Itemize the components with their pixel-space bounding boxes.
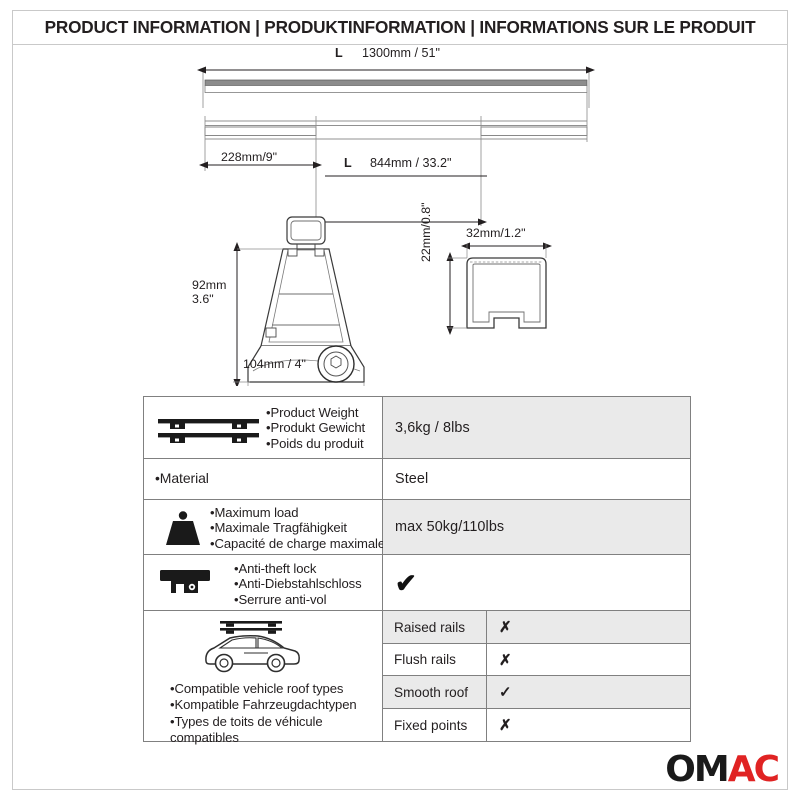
roof-option-name: Smooth roof [383, 676, 487, 708]
spec-label-material: •Material [155, 471, 209, 486]
roof-option-row: Smooth roof ✓ [383, 676, 690, 709]
spec-label-text: •Anti-theft lock •Anti-Diebstahlschloss … [234, 561, 362, 607]
crossbar-bottom-view [205, 121, 587, 139]
roof-option-name: Fixed points [383, 709, 487, 741]
logo-text-red: AC [728, 749, 778, 790]
product-information-page: PRODUCT INFORMATION | PRODUKTINFORMATION… [0, 0, 800, 800]
anti-theft-checkmark: ✔ [395, 570, 417, 596]
spec-label-cell: •Material [144, 459, 383, 499]
page-title: PRODUCT INFORMATION | PRODUKTINFORMATION… [0, 17, 800, 38]
bar-spread-value: 844mm / 33.2" [370, 156, 451, 170]
spec-value-cell: ✔ [383, 555, 690, 610]
foot-height-mm: 92mm [192, 278, 226, 292]
spec-label-cell: •Product Weight •Produkt Gewicht •Poids … [144, 397, 383, 458]
spec-label-text: •Product Weight •Produkt Gewicht •Poids … [266, 405, 365, 451]
foot-height-in: 3.6" [192, 292, 214, 306]
spec-label-de: •Produkt Gewicht [266, 420, 365, 435]
overall-length-label: L [335, 46, 343, 60]
spec-label-cell: •Anti-theft lock •Anti-Diebstahlschloss … [144, 555, 383, 610]
spec-label-en: •Product Weight [266, 405, 365, 420]
weight-icon [162, 510, 204, 553]
foot-width-value: 104mm / 4" [243, 357, 306, 371]
header-divider [12, 44, 788, 45]
table-row: •Anti-theft lock •Anti-Diebstahlschloss … [144, 555, 690, 611]
roof-option-row: Flush rails ✗ [383, 644, 690, 676]
crossbar-top-view [205, 80, 587, 93]
spec-label-text: •Material [155, 471, 209, 486]
spec-label-en: •Anti-theft lock [234, 561, 362, 576]
roof-option-name: Flush rails [383, 644, 487, 675]
roof-label-fr: •Types de toits de véhicule [170, 714, 357, 730]
profile-height-value: 22mm/0.8" [419, 203, 433, 263]
car-with-rack-icon [196, 615, 306, 682]
table-row: •Material Steel [144, 459, 690, 500]
roof-label-fr-cont: compatibles [170, 730, 357, 746]
roof-label-en: •Compatible vehicle roof types [170, 681, 357, 697]
spec-label-text: •Maximum load •Maximale Tragfähigkeit •C… [210, 505, 385, 551]
roof-option-mark: ✗ [487, 611, 690, 643]
bar-profile-cross-section [448, 244, 546, 328]
spec-label-en: •Maximum load [210, 505, 385, 520]
foot-height-value: 92mm 3.6" [192, 278, 226, 306]
roof-label-de: •Kompatible Fahrzeugdachtypen [170, 697, 357, 713]
product-weight-value: 3,6kg / 8lbs [395, 420, 470, 436]
lock-icon [158, 568, 212, 603]
end-offset-value: 228mm/9" [221, 150, 277, 164]
spec-value-cell: 3,6kg / 8lbs [383, 397, 690, 458]
maximum-load-value: max 50kg/110lbs [395, 519, 504, 535]
table-row: •Compatible vehicle roof types •Kompatib… [144, 611, 690, 741]
spec-label-text: •Compatible vehicle roof types •Kompatib… [170, 681, 357, 747]
logo-text-dark: OM [665, 749, 727, 790]
foot-width-dimension [248, 383, 364, 386]
spec-label-cell: •Compatible vehicle roof types •Kompatib… [144, 611, 383, 741]
spec-label-de: •Maximale Tragfähigkeit [210, 520, 385, 535]
spec-value-cell: max 50kg/110lbs [383, 500, 690, 554]
profile-width-value: 32mm/1.2" [466, 226, 526, 240]
spec-label-fr: •Capacité de charge maximale [210, 536, 385, 551]
bar-spread-label: L [344, 156, 352, 170]
table-row: •Maximum load •Maximale Tragfähigkeit •C… [144, 500, 690, 555]
bar-spread-dimension [318, 176, 487, 222]
spec-label-fr: •Poids du produit [266, 436, 365, 451]
roof-option-row: Raised rails ✗ [383, 611, 690, 644]
roof-option-mark: ✗ [487, 709, 690, 741]
material-value: Steel [395, 471, 428, 487]
overall-length-value: 1300mm / 51" [362, 46, 440, 60]
roof-option-mark: ✓ [487, 676, 690, 708]
spec-value-cell: Steel [383, 459, 690, 499]
roof-option-row: Fixed points ✗ [383, 709, 690, 741]
spec-label-de: •Anti-Diebstahlschloss [234, 576, 362, 591]
roof-option-mark: ✗ [487, 644, 690, 675]
table-row: •Product Weight •Produkt Gewicht •Poids … [144, 397, 690, 459]
spec-label-fr: •Serrure anti-vol [234, 592, 362, 607]
omac-logo: OMAC [665, 752, 778, 788]
specifications-table: •Product Weight •Produkt Gewicht •Poids … [143, 396, 691, 742]
technical-drawing: L 1300mm / 51" 228mm/9" L 844mm / 33.2" … [0, 46, 800, 386]
crossbars-icon [156, 413, 261, 450]
spec-label-cell: •Maximum load •Maximale Tragfähigkeit •C… [144, 500, 383, 554]
roof-option-name: Raised rails [383, 611, 487, 643]
